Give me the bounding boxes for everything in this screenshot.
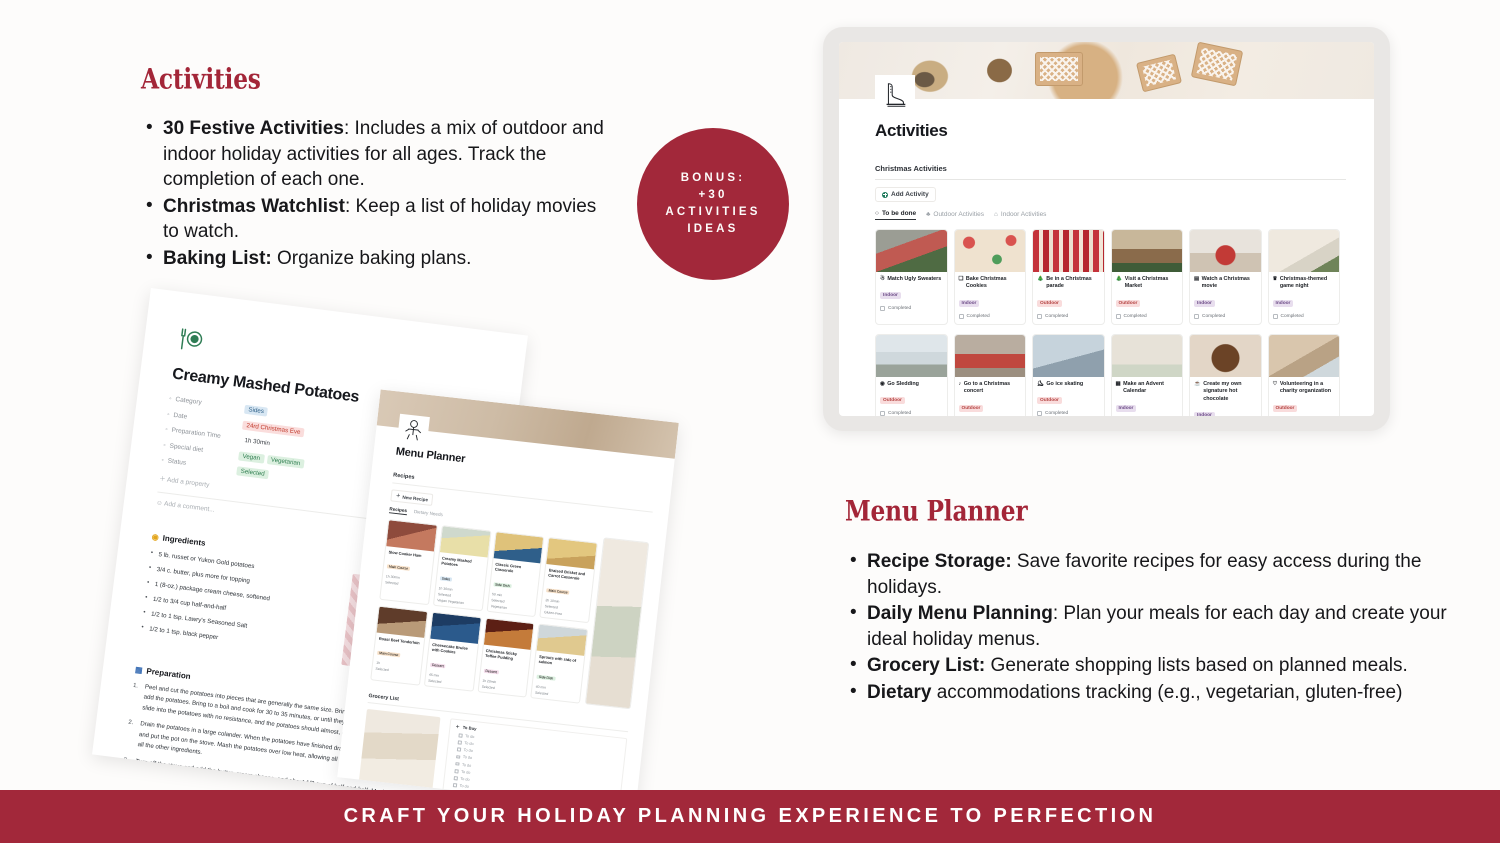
activity-thumbnail [1112, 230, 1183, 272]
activity-name-label: Go ice skating [1046, 381, 1083, 389]
checkbox-icon [1194, 314, 1199, 319]
list-icon: ◦ [163, 441, 166, 448]
recipe-meta: Classic Green CasseroleSide Dish50 minSe… [487, 558, 540, 616]
recipe-tag: Main Course [387, 565, 411, 572]
activity-icon: 🎄 [1037, 276, 1044, 284]
recipe-meta: Creamy Mashed PotatoesSides1h 30minSelec… [434, 552, 487, 610]
activity-tag: Outdoor [1273, 405, 1298, 412]
activity-meta: ☕Create my own signature hot chocolateIn… [1190, 377, 1261, 417]
grocery-item-label: To do [460, 777, 470, 782]
activity-tag: Outdoor [959, 405, 984, 412]
activities-heading: Activities [141, 63, 578, 95]
activity-thumbnail [876, 230, 947, 272]
grocery-item-label: To do [459, 784, 469, 789]
activity-meta: ⛸Go ice skatingOutdoorCompleted [1033, 377, 1104, 417]
checkbox-icon [959, 314, 964, 319]
completed-label: Completed [1281, 314, 1304, 319]
completed-label: Completed [888, 306, 911, 311]
check-icon: ◦ [169, 395, 172, 402]
tab-label: Indoor Activities [1001, 211, 1047, 218]
database-title: Christmas Activities [875, 164, 1346, 173]
activity-name: ♪Go to a Christmas concert [959, 381, 1022, 396]
activity-meta: ☃Match Ugly SweatersIndoorCompleted [876, 272, 947, 317]
activity-thumbnail [1190, 335, 1261, 377]
add-activity-label: Add Activity [891, 191, 929, 198]
activity-tag: Outdoor [1037, 397, 1062, 404]
bullet-bold: Dietary [867, 682, 931, 703]
checkbox-icon [453, 783, 457, 787]
recipe-card[interactable]: Sprouts with side of salmonSide Dish40 m… [530, 623, 588, 703]
activity-card[interactable]: ▤Watch a Christmas movieIndoorCompleted [1189, 229, 1262, 325]
recipe-name: Roast Beef Tenderloin [379, 636, 421, 646]
preparation-heading-label: Preparation [146, 666, 191, 681]
completed-label: Completed [967, 314, 990, 319]
activity-meta: ♡Volunteering in a charity organizationO… [1269, 377, 1340, 417]
activity-name-label: Visit a Christmas Market [1125, 276, 1178, 291]
activity-meta: ♛Christmas-themed game nightIndoorComple… [1269, 272, 1340, 324]
property-name: ◦Status [161, 457, 231, 473]
gingerbread-icon [397, 414, 430, 447]
plus-icon: ＋ [396, 493, 401, 499]
activity-card[interactable]: ❑Bake Christmas CookiesIndoorCompleted [954, 229, 1027, 325]
activity-icon: ☃ [880, 276, 885, 284]
tab-outdoor-activities[interactable]: ♣Outdoor Activities [926, 211, 984, 218]
activity-name-label: Go Sledding [887, 381, 919, 389]
activity-thumbnail [1190, 230, 1261, 272]
list-item: Christmas Watchlist: Keep a list of holi… [141, 194, 611, 245]
bullet-rest: accommodations tracking (e.g., vegetaria… [931, 682, 1402, 703]
bullet-bold: Daily Menu Planning [867, 603, 1053, 624]
recipe-name: Christmas Sticky Toffee Pudding [485, 648, 528, 663]
checkbox-icon [457, 748, 461, 752]
banner-text: CRAFT YOUR HOLIDAY PLANNING EXPERIENCE T… [344, 805, 1157, 828]
activity-card[interactable]: ♪Go to a Christmas concertOutdoorComplet… [954, 334, 1027, 417]
bonus-line-3: ACTIVITIES [665, 204, 760, 221]
completed-checkbox[interactable]: Completed [1037, 314, 1100, 319]
property-name: ◦Date [167, 411, 237, 427]
property-name-label: Preparation Time [171, 427, 221, 440]
checkbox-icon [454, 776, 458, 780]
recipe-meta: Slow Cooker HamMain Course1h 30minSelect… [382, 546, 434, 592]
checkbox-icon [458, 733, 462, 737]
new-recipe-button[interactable]: ＋ New Recipe [390, 489, 433, 506]
recipe-name: Slow Cooker Ham [388, 549, 430, 559]
checkbox-icon [1037, 314, 1042, 319]
activity-thumbnail [1269, 230, 1340, 272]
recipe-name: Classic Green Casserole [495, 561, 538, 576]
activity-name: ☃Match Ugly Sweaters [880, 276, 943, 284]
activity-name-label: Bake Christmas Cookies [966, 276, 1021, 291]
recipe-name: Cheesecake Brulee with Cookies [431, 642, 474, 657]
activity-icon: ▤ [1194, 276, 1199, 284]
bullet-bold: Christmas Watchlist [163, 196, 345, 217]
bullet-bold: Baking List: [163, 248, 272, 269]
activity-tag: Indoor [1194, 300, 1215, 307]
recipe-tag: Side Dish [493, 582, 512, 588]
completed-label: Completed [1124, 314, 1147, 319]
activity-tag: Indoor [959, 300, 980, 307]
activity-name: ◉Go Sledding [880, 381, 943, 389]
property-name-label: Special diet [169, 442, 203, 453]
list-item: Grocery List: Generate shopping lists ba… [845, 653, 1455, 679]
activity-thumbnail [876, 335, 947, 377]
completed-label: Completed [1045, 314, 1068, 319]
bonus-badge: BONUS: +30 ACTIVITIES IDEAS [637, 128, 789, 280]
tab-to-be-done[interactable]: ○To be done [875, 210, 916, 220]
activity-tag: Outdoor [1116, 300, 1141, 307]
ingredients-heading-label: Ingredients [162, 533, 206, 547]
activity-meta: ◉Go SleddingOutdoorCompleted [876, 377, 947, 417]
completed-checkbox[interactable]: Completed [1273, 314, 1336, 319]
menu-planner-page-card: Menu Planner Recipes ＋ New Recipe Recipe… [337, 389, 679, 810]
activity-name: 🎄Visit a Christmas Market [1116, 276, 1179, 291]
recipe-tag: Sides [440, 576, 453, 581]
activity-thumbnail [1269, 335, 1340, 377]
checkbox-icon [456, 755, 460, 759]
bonus-line-2: +30 [665, 187, 760, 204]
new-recipe-label: New Recipe [402, 494, 428, 502]
grocery-item-label: To do [465, 734, 475, 739]
activity-card[interactable]: ♛Christmas-themed game nightIndoorComple… [1268, 229, 1341, 325]
property-tag: 24rd Christmas Eve [242, 420, 305, 437]
activities-text-block: Activities 30 Festive Activities: Includ… [141, 66, 611, 272]
activity-name-label: Christmas-themed game night [1280, 276, 1335, 291]
recipe-meta: Christmas Sticky Toffee PuddingDessert1h… [478, 644, 531, 696]
bullet-bold: Grocery List: [867, 655, 985, 676]
completed-checkbox[interactable]: Completed [880, 306, 943, 311]
plus-icon [882, 192, 888, 198]
activity-name: 🎄Be in a Christmas parade [1037, 276, 1100, 291]
completed-checkbox[interactable]: Completed [1037, 411, 1100, 416]
property-value[interactable]: 1h 30min [240, 436, 277, 449]
completed-checkbox[interactable]: Completed [1116, 314, 1179, 319]
bonus-line-1: BONUS: [665, 170, 760, 187]
property-name: ◦Special diet [163, 441, 233, 457]
activity-tag: Indoor [1273, 300, 1294, 307]
activity-tag: Indoor [880, 292, 901, 299]
recipe-meta: Sprouts with side of salmonSide Dish40 m… [532, 650, 585, 702]
activity-name: ▦Make an Advent Calendar [1116, 381, 1179, 396]
recipe-tag: Dessert [430, 662, 446, 668]
clock-icon: ◦ [167, 411, 170, 418]
property-tag: Sides [244, 405, 268, 417]
recipe-card[interactable]: Christmas Sticky Toffee PuddingDessert1h… [477, 617, 535, 697]
property-tag: Vegetarian [266, 454, 304, 468]
activity-card[interactable]: ♡Volunteering in a charity organizationO… [1268, 334, 1341, 417]
tablet-screen: Activities Christmas Activities Add Acti… [839, 42, 1374, 416]
list-item: Recipe Storage: Save favorite recipes fo… [845, 549, 1455, 600]
activity-thumbnail [1112, 335, 1183, 377]
list-item: Dietary accommodations tracking (e.g., v… [845, 680, 1455, 706]
menu-planner-bullet-list: Recipe Storage: Save favorite recipes fo… [845, 549, 1455, 705]
grocery-item-label: To do [463, 755, 473, 760]
grocery-group-label: To Buy [462, 725, 476, 732]
property-value[interactable]: VeganVegetarian [238, 451, 308, 469]
activity-name-label: Create my own signature hot chocolate [1203, 381, 1256, 404]
recipe-meta: Cheesecake Brulee with CookiesDessert45 … [425, 638, 478, 690]
activity-name-label: Go to a Christmas concert [964, 381, 1021, 396]
recipe-tag: Side Dish [537, 674, 556, 680]
notion-page-body: Activities Christmas Activities Add Acti… [839, 99, 1374, 416]
menu-planner-heading: Menu Planner [845, 495, 1412, 527]
activity-name-label: Volunteering in a charity organization [1280, 381, 1335, 396]
activity-name: ☕Create my own signature hot chocolate [1194, 381, 1257, 404]
plus-icon: ＋ [455, 724, 460, 730]
menu-planner-text-block: Menu Planner Recipe Storage: Save favori… [845, 498, 1455, 706]
bullet-rest: Organize baking plans. [272, 248, 472, 269]
recipe-meta: Braised Brisket and Carrot CasseroleMain… [541, 564, 594, 622]
activity-icon: ▦ [1116, 381, 1121, 389]
recipe-meta: Roast Beef TenderloinMain Course1hSelect… [372, 632, 424, 678]
property-name-label: Status [167, 458, 186, 467]
grocery-item-label: To do [463, 748, 473, 753]
list-item: Daily Menu Planning: Plan your meals for… [845, 601, 1455, 652]
checkbox-icon [454, 769, 458, 773]
activity-name: ❑Bake Christmas Cookies [959, 276, 1022, 291]
activity-name-label: Match Ugly Sweaters [887, 276, 941, 284]
activity-icon: ☕ [1194, 381, 1201, 389]
activity-tag: Indoor [1194, 412, 1215, 416]
completed-label: Completed [1045, 411, 1068, 416]
tab-indoor-activities[interactable]: ⌂Indoor Activities [994, 211, 1046, 218]
grocery-item-label: To do [464, 741, 474, 746]
activity-icon: 🎄 [1116, 276, 1123, 284]
activity-thumbnail [955, 335, 1026, 377]
divider [875, 179, 1346, 180]
recipe-card[interactable]: Cheesecake Brulee with CookiesDessert45 … [424, 611, 482, 691]
checkbox-icon [458, 741, 462, 745]
tab-label: To be done [882, 210, 916, 217]
checkbox-icon [455, 762, 459, 766]
activity-name: ⛸Go ice skating [1037, 381, 1100, 389]
status-icon: ◦ [161, 457, 164, 464]
activity-card[interactable]: 🎄Be in a Christmas paradeOutdoorComplete… [1032, 229, 1105, 325]
activity-tag: Outdoor [1037, 300, 1062, 307]
recipe-tag: Main Course [546, 588, 570, 595]
recipe-card-grid-row1: Slow Cooker HamMain Course1h 30minSelect… [379, 519, 598, 623]
bullet-rest: Generate shopping lists based on planned… [985, 655, 1408, 676]
property-name-label: Category [175, 396, 202, 406]
ice-skate-icon [875, 75, 915, 115]
menu-page-body: Menu Planner Recipes ＋ New Recipe Recipe… [337, 425, 675, 810]
recipe-name: Creamy Mashed Potatoes [441, 555, 484, 570]
slide-canvas: Activities 30 Festive Activities: Includ… [0, 0, 1500, 843]
tab-label: Outdoor Activities [933, 211, 984, 218]
recipe-tag: Dessert [483, 668, 499, 674]
activity-name: ♡Volunteering in a charity organization [1273, 381, 1336, 396]
bottom-banner: CRAFT YOUR HOLIDAY PLANNING EXPERIENCE T… [0, 790, 1500, 843]
completed-checkbox[interactable]: Completed [959, 314, 1022, 319]
list-item: Baking List: Organize baking plans. [141, 246, 611, 272]
property-value[interactable]: Sides [244, 405, 271, 417]
checkbox-icon [1037, 411, 1042, 416]
activity-meta: ❑Bake Christmas CookiesIndoorCompleted [955, 272, 1026, 324]
activity-meta: ▦Make an Advent CalendarIndoorCompleted [1112, 377, 1183, 417]
activity-card-grid-row2: ◉Go SleddingOutdoorCompleted♪Go to a Chr… [875, 334, 1346, 417]
bullet-bold: 30 Festive Activities [163, 118, 344, 139]
activity-card[interactable]: ☃Match Ugly SweatersIndoorCompleted [875, 229, 948, 325]
add-activity-button[interactable]: Add Activity [875, 187, 936, 202]
page-title: Activities [875, 121, 1346, 141]
activity-meta: 🎄Visit a Christmas MarketOutdoorComplete… [1112, 272, 1183, 324]
activity-meta: ♪Go to a Christmas concertOutdoorComplet… [955, 377, 1026, 417]
activity-name-label: Watch a Christmas movie [1202, 276, 1257, 291]
recipe-card[interactable]: Roast Beef TenderloinMain Course1hSelect… [370, 605, 428, 685]
recipe-card-grid-row2: Roast Beef TenderloinMain Course1hSelect… [370, 605, 588, 703]
checkbox-icon [1273, 314, 1278, 319]
property-name-label: Date [173, 411, 188, 420]
recipe-card[interactable]: Creamy Mashed PotatoesSides1h 30minSelec… [433, 525, 491, 611]
bonus-line-4: IDEAS [665, 221, 760, 238]
property-value[interactable]: 24rd Christmas Eve [242, 420, 308, 437]
activity-icon: ◉ [880, 381, 885, 389]
activity-thumbnail [955, 230, 1026, 272]
property-tag: Vegan [238, 451, 264, 463]
activity-meta: 🎄Be in a Christmas paradeOutdoorComplete… [1033, 272, 1104, 324]
circle-icon: ○ [875, 210, 879, 217]
add-comment-placeholder: Add a comment... [164, 500, 215, 513]
property-tag: Selected [236, 466, 269, 479]
activity-tag: Outdoor [880, 397, 905, 404]
ingredients-list: 5 lb. russet or Yukon Gold potatoes3/4 c… [139, 548, 341, 663]
add-property-label: Add a property [167, 476, 210, 488]
activity-thumbnail [1033, 335, 1104, 377]
checkbox-icon [880, 306, 885, 311]
activity-name-label: Be in a Christmas parade [1046, 276, 1099, 291]
notion-cover-image [839, 42, 1374, 99]
activity-tag: Indoor [1116, 405, 1137, 412]
tree-icon: ♣ [926, 211, 930, 218]
activities-bullet-list: 30 Festive Activities: Includes a mix of… [141, 116, 611, 271]
fork-plate-icon [175, 326, 204, 355]
bulb-icon: ◉ [151, 532, 159, 542]
bonus-badge-text: BONUS: +30 ACTIVITIES IDEAS [665, 170, 760, 238]
recipe-name: Sprouts with side of salmon [538, 654, 581, 669]
activity-thumbnail [1033, 230, 1104, 272]
activity-card[interactable]: ◉Go SleddingOutdoorCompleted [875, 334, 948, 417]
clock-icon: ◦ [165, 426, 168, 433]
recipe-name: Braised Brisket and Carrot Casserole [548, 567, 591, 582]
property-name: ◦Category [169, 395, 239, 411]
grocery-item-label: To do [461, 770, 471, 775]
tablet-mockup: Activities Christmas Activities Add Acti… [823, 27, 1390, 431]
activity-card[interactable]: 🎄Visit a Christmas MarketOutdoorComplete… [1111, 229, 1184, 325]
grocery-item-label: To do [462, 762, 472, 767]
list-item: 30 Festive Activities: Includes a mix of… [141, 116, 611, 193]
completed-label: Completed [1202, 314, 1225, 319]
recipe-card[interactable]: Slow Cooker HamMain Course1h 30minSelect… [379, 519, 437, 605]
activity-card[interactable]: ⛸Go ice skatingOutdoorCompleted [1032, 334, 1105, 417]
book-icon: ▦ [135, 665, 144, 675]
checkbox-icon [880, 411, 885, 416]
activity-card[interactable]: ▦Make an Advent CalendarIndoorCompleted [1111, 334, 1184, 417]
recipe-tag: Main Course [377, 651, 401, 658]
activity-icon: ♪ [959, 381, 962, 389]
activity-icon: ⛸ [1037, 381, 1044, 389]
activity-card-grid: ☃Match Ugly SweatersIndoorCompleted❑Bake… [875, 229, 1346, 325]
completed-label: Completed [888, 411, 911, 416]
completed-checkbox[interactable]: Completed [880, 411, 943, 416]
property-name: ◦Preparation Time [165, 426, 235, 442]
checkbox-icon [1116, 314, 1121, 319]
view-tabs: ○To be done ♣Outdoor Activities ⌂Indoor … [875, 210, 1346, 220]
activity-icon: ♛ [1273, 276, 1278, 284]
activity-icon: ❑ [959, 276, 964, 284]
property-value[interactable]: Selected [236, 466, 272, 479]
house-icon: ⌂ [994, 211, 998, 218]
tab-label: Recipes [389, 506, 407, 513]
activity-icon: ♡ [1273, 381, 1278, 389]
activity-name-label: Make an Advent Calendar [1123, 381, 1178, 396]
bullet-bold: Recipe Storage: [867, 551, 1012, 572]
recipe-card[interactable]: Braised Brisket and Carrot CasseroleMain… [540, 537, 598, 623]
activity-name: ♛Christmas-themed game night [1273, 276, 1336, 291]
completed-checkbox[interactable]: Completed [1194, 314, 1257, 319]
activity-card[interactable]: ☕Create my own signature hot chocolateIn… [1189, 334, 1262, 417]
activity-name: ▤Watch a Christmas movie [1194, 276, 1257, 291]
property-tag: 1h 30min [240, 436, 274, 449]
activity-meta: ▤Watch a Christmas movieIndoorCompleted [1190, 272, 1261, 324]
recipe-card[interactable]: Classic Green CasseroleSide Dish50 minSe… [486, 531, 544, 617]
